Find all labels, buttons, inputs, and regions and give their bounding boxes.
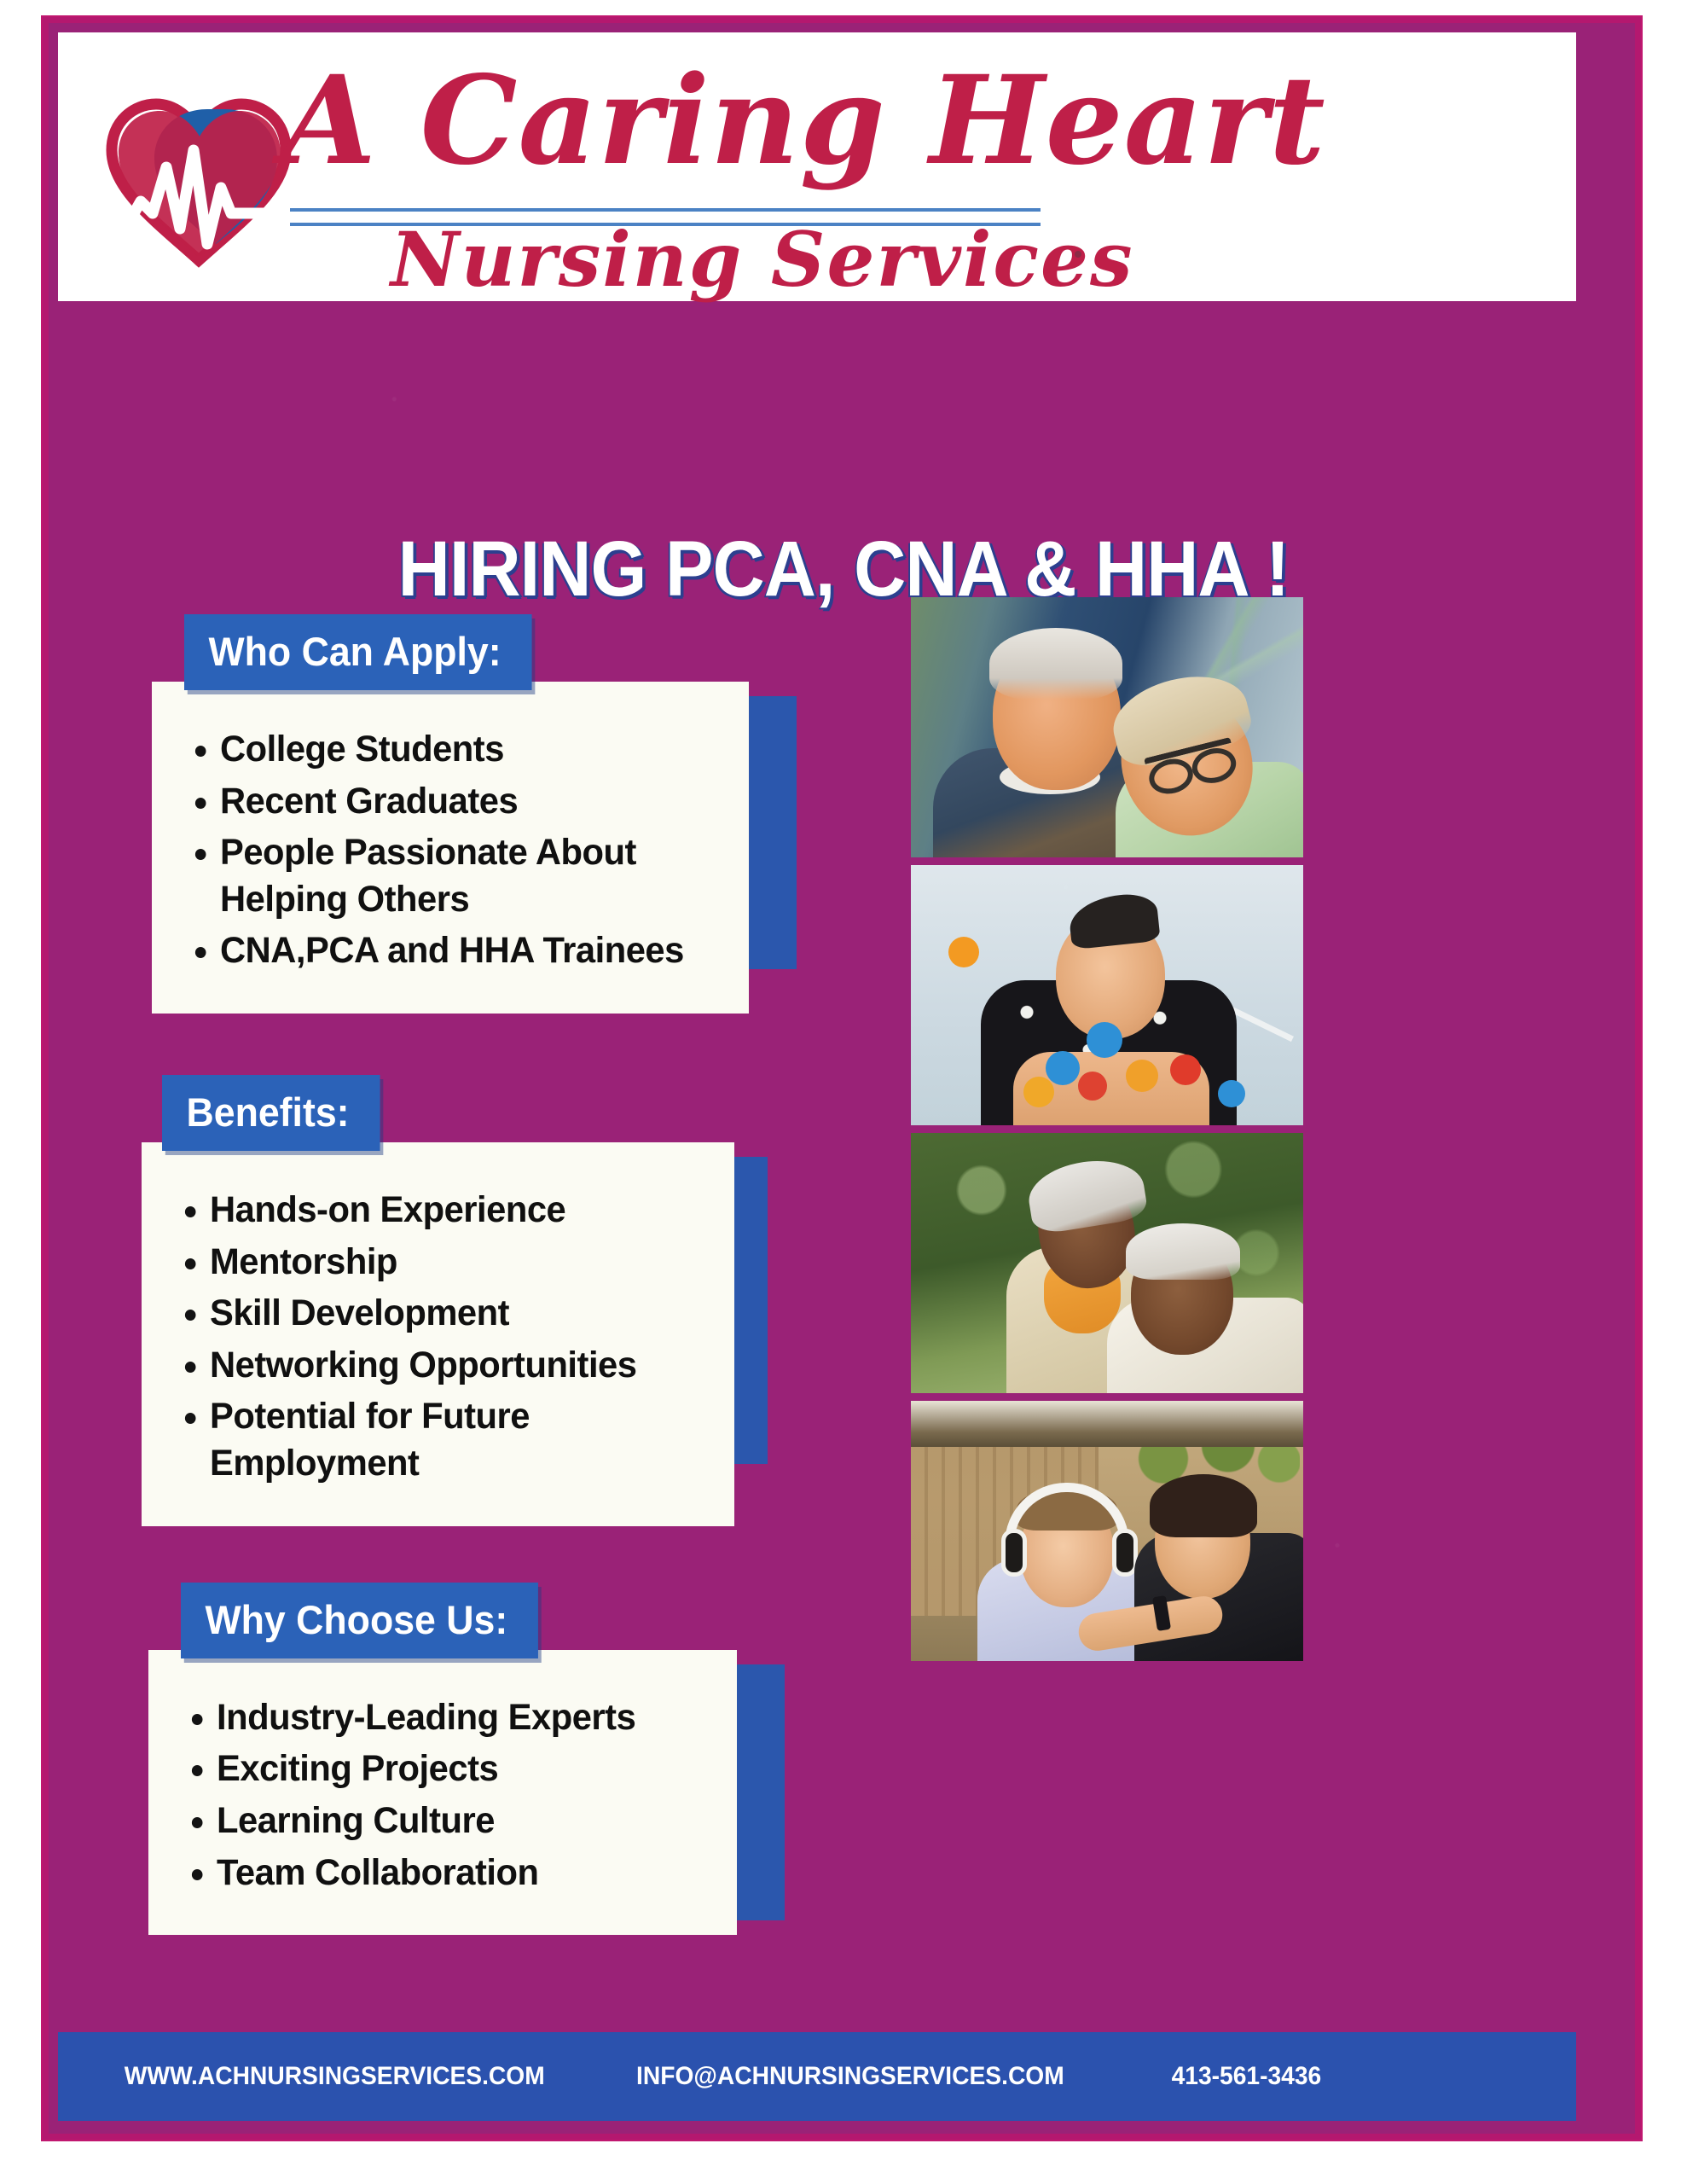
- list-item: Learning Culture: [217, 1798, 693, 1844]
- list-why-choose-us: Industry-Leading Experts Exciting Projec…: [177, 1694, 708, 1896]
- section-card-benefits: Hands-on Experience Mentorship Skill Dev…: [142, 1142, 734, 1526]
- list-item: Networking Opportunities: [210, 1342, 691, 1389]
- photo-ball: [1087, 1022, 1122, 1058]
- photo-figure-hair: [989, 628, 1122, 700]
- photo-headphone-cup: [1001, 1529, 1027, 1577]
- list-benefits: Hands-on Experience Mentorship Skill Dev…: [171, 1187, 705, 1487]
- list-item: CNA,PCA and HHA Trainees: [220, 927, 704, 974]
- list-item: Industry-Leading Experts: [217, 1694, 693, 1741]
- photo-caregiver-with-headphones: [911, 1401, 1303, 1661]
- brand-name: A Caring Heart: [281, 56, 1305, 184]
- photo-ball: [1046, 1051, 1080, 1085]
- photo-ball: [1023, 1077, 1054, 1107]
- text-columns: Who Can Apply: College Students Recent G…: [152, 614, 800, 1969]
- photo-figure-hair: [1126, 1223, 1240, 1280]
- photo-ball: [1170, 1054, 1201, 1085]
- photo-ball: [1078, 1072, 1107, 1101]
- list-item: College Students: [220, 726, 704, 773]
- section-title-who-can-apply: Who Can Apply:: [184, 614, 532, 690]
- section-benefits: Benefits: Hands-on Experience Mentorship…: [152, 1075, 800, 1526]
- list-item: Hands-on Experience: [210, 1187, 691, 1234]
- list-item: Team Collaboration: [217, 1850, 693, 1896]
- photo-young-man-with-balls: [911, 865, 1303, 1125]
- photo-figure-hair: [1067, 892, 1160, 950]
- photo-ball: [1126, 1060, 1158, 1092]
- photo-column: [911, 597, 1312, 1669]
- content-area: Who Can Apply: College Students Recent G…: [58, 614, 1576, 2022]
- list-item: People Passionate About Helping Others: [220, 829, 704, 922]
- section-title-why-choose-us: Why Choose Us:: [181, 1583, 538, 1658]
- brand-decorative-dot: [1075, 251, 1081, 258]
- photo-background-canopy: [911, 1401, 1303, 1447]
- footer-email[interactable]: INFO@ACHNURSINGSERVICES.COM: [636, 2062, 1064, 2091]
- photo-ball: [1218, 1080, 1245, 1107]
- footer-contact-bar: WWW.ACHNURSINGSERVICES.COM INFO@ACHNURSI…: [58, 2032, 1576, 2121]
- flyer-page: A Caring Heart Nursing Services HIRING P…: [0, 0, 1687, 2184]
- footer-website[interactable]: WWW.ACHNURSINGSERVICES.COM: [125, 2062, 545, 2091]
- photo-ball: [948, 937, 979, 967]
- list-item: Recent Graduates: [220, 778, 704, 825]
- section-why-choose-us: Why Choose Us: Industry-Leading Experts …: [152, 1583, 800, 1935]
- list-item: Mentorship: [210, 1239, 691, 1286]
- heart-ekg-logo-icon: [96, 85, 310, 269]
- footer-phone-number[interactable]: 413-561-3436: [1172, 2062, 1322, 2091]
- logo-wrap: A Caring Heart Nursing Services: [58, 32, 1576, 301]
- flyer-magenta-frame: A Caring Heart Nursing Services HIRING P…: [41, 15, 1643, 2141]
- photo-caregiver-outdoors: [911, 1133, 1303, 1393]
- brand-text-block: A Caring Heart Nursing Services: [281, 56, 1305, 184]
- list-item: Potential for Future Employment: [210, 1393, 691, 1486]
- photo-figure-hair: [1150, 1474, 1257, 1537]
- section-title-benefits: Benefits:: [162, 1075, 380, 1151]
- logo-header-panel: A Caring Heart Nursing Services: [58, 32, 1576, 301]
- brand-tagline: Nursing Services: [391, 215, 1133, 304]
- section-who-can-apply: Who Can Apply: College Students Recent G…: [152, 614, 800, 1014]
- section-card-why-choose-us: Industry-Leading Experts Exciting Projec…: [148, 1650, 737, 1935]
- list-item: Exciting Projects: [217, 1745, 693, 1792]
- list-item: Skill Development: [210, 1290, 691, 1337]
- photo-elderly-couple-smiling: [911, 597, 1303, 857]
- page-headline: HIRING PCA, CNA & HHA !: [107, 525, 1580, 614]
- section-card-who-can-apply: College Students Recent Graduates People…: [152, 682, 749, 1014]
- list-who-can-apply: College Students Recent Graduates People…: [181, 726, 720, 974]
